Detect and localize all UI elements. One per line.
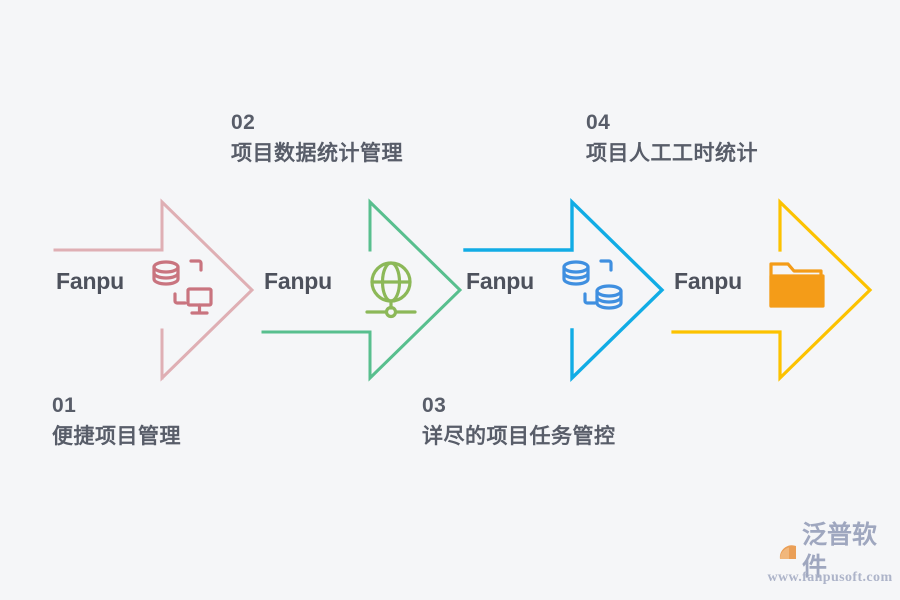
- caption-03-title: 详尽的项目任务管控: [422, 426, 616, 448]
- fanpu-label-02: Fanpu: [264, 268, 332, 295]
- caption-01-number: 01: [52, 395, 181, 417]
- process-arrow-04: Fanpu: [658, 195, 900, 385]
- watermark-url: www.fanpusoft.com: [766, 570, 894, 586]
- caption-04: 04 项目人工工时统计: [586, 112, 758, 165]
- caption-03: 03 详尽的项目任务管控: [422, 395, 616, 448]
- double-database-icon: [557, 253, 629, 325]
- fanpu-label-03: Fanpu: [466, 268, 534, 295]
- database-monitor-icon: [147, 253, 219, 325]
- watermark-row: 泛普软件: [766, 533, 894, 569]
- folder-icon: [765, 253, 837, 325]
- caption-02-title: 项目数据统计管理: [231, 143, 403, 165]
- fanpu-label-01: Fanpu: [56, 268, 124, 295]
- caption-03-number: 03: [422, 395, 616, 417]
- globe-network-icon: [355, 253, 427, 325]
- caption-02: 02 项目数据统计管理: [231, 112, 403, 165]
- caption-02-number: 02: [231, 112, 403, 134]
- caption-04-number: 04: [586, 112, 758, 134]
- fanpu-label-04: Fanpu: [674, 268, 742, 295]
- caption-04-title: 项目人工工时统计: [586, 143, 758, 165]
- caption-01-title: 便捷项目管理: [52, 426, 181, 448]
- infographic-canvas: 01 便捷项目管理 02 项目数据统计管理 03 详尽的项目任务管控 04 项目…: [0, 0, 900, 600]
- caption-01: 01 便捷项目管理: [52, 395, 181, 448]
- watermark-logo: 泛普软件 www.fanpusoft.com: [766, 533, 894, 591]
- fanpu-logo-icon: [766, 535, 800, 567]
